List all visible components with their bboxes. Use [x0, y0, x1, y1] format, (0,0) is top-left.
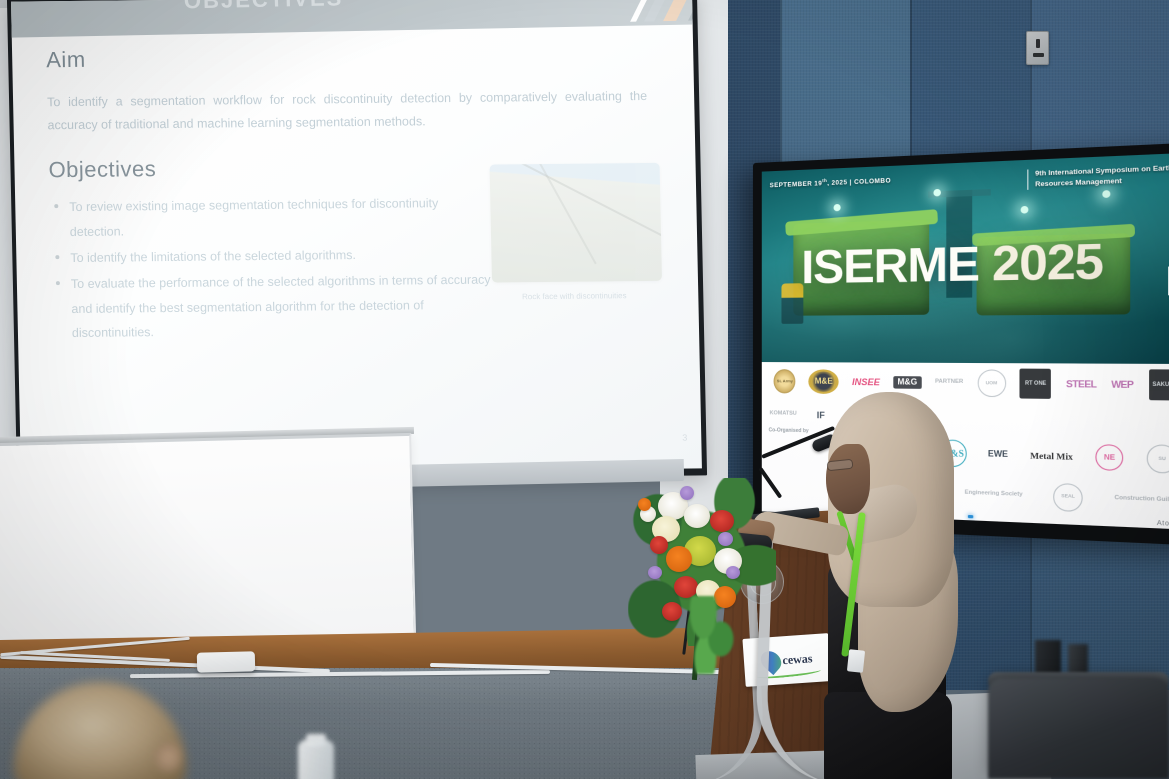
flower: [648, 566, 662, 579]
sponsor-logo: PARTNER: [935, 380, 963, 386]
white-power-adapter[interactable]: [197, 651, 256, 673]
sponsor-logo: SEAL: [1053, 483, 1083, 512]
banner-title: ISERME 2025: [801, 232, 1103, 295]
presenter-face: [826, 444, 870, 514]
banner-title-year: 2025: [992, 233, 1103, 291]
wall-switch-plate[interactable]: [1026, 31, 1049, 65]
banner-artwork: SEPTEMBER 19th, 2025 | COLOMBO 9th Inter…: [762, 152, 1169, 371]
flower: [662, 602, 682, 621]
slide-figure-caption: Rock face with discontinuities: [494, 291, 654, 302]
presenter: [800, 392, 980, 779]
objective-item: To review existing image segmentation te…: [49, 191, 490, 244]
banner-title-main: ISERME: [801, 236, 979, 293]
sponsor-logo: SU: [1147, 445, 1169, 475]
sponsor-logo: EWE: [988, 450, 1008, 459]
sponsor-logo: SL Army: [774, 369, 796, 393]
sponsor-logo: INSEE: [852, 378, 880, 388]
sponsor-logo: M&G: [893, 376, 921, 389]
audience-chair[interactable]: [988, 678, 1169, 779]
flower: [718, 532, 733, 546]
flower: [726, 566, 740, 579]
sponsor-logo: STEEL: [1066, 379, 1096, 389]
flower: [650, 536, 668, 554]
slide-aim-text: To identify a segmentation workflow for …: [47, 85, 648, 138]
sponsor-logo: NE: [1096, 444, 1124, 471]
sponsor-logo: KOMATSU: [770, 412, 797, 418]
conference-hall-scene: OBJECTIVES Aim To identify a segmentatio…: [0, 0, 1169, 779]
sponsor-logo: SAKURA: [1149, 370, 1169, 401]
sponsor-logo: M&E: [809, 370, 839, 395]
water-bottle: [298, 740, 334, 779]
audience-member-ear: [155, 742, 181, 772]
flower: [674, 576, 698, 598]
sponsor-logo: RT ONE: [1020, 369, 1051, 399]
presenter-badge: [847, 649, 865, 673]
flower: [684, 504, 710, 528]
slide-page-number: 3: [682, 433, 687, 443]
sponsor-logo: Construction Guild: [1114, 496, 1169, 504]
projection-screen: OBJECTIVES Aim To identify a segmentatio…: [11, 0, 702, 476]
flower: [638, 498, 651, 511]
sponsor-logo: Metal Mix: [1030, 451, 1073, 461]
flower: [710, 510, 734, 532]
flower: [680, 486, 694, 500]
objective-item: To identify the limitations of the selec…: [50, 242, 491, 271]
projection-screen-frame: OBJECTIVES Aim To identify a segmentatio…: [7, 0, 707, 483]
slide-rock-photo: [490, 163, 662, 283]
flower: [666, 546, 692, 572]
sponsor-logo: UOM: [977, 370, 1006, 398]
slide-objectives-list: To review existing image segmentation te…: [49, 191, 492, 346]
slide-aim-heading: Aim: [46, 41, 660, 73]
mine-lamp-icon: [933, 188, 940, 196]
sponsor-logo: WEP: [1111, 380, 1133, 390]
objective-item: To evaluate the performance of the selec…: [51, 268, 493, 346]
mine-worker-graphic: [781, 283, 803, 324]
decorative-plant: [690, 596, 734, 674]
tv-brand-label: Atomic: [1157, 521, 1169, 529]
